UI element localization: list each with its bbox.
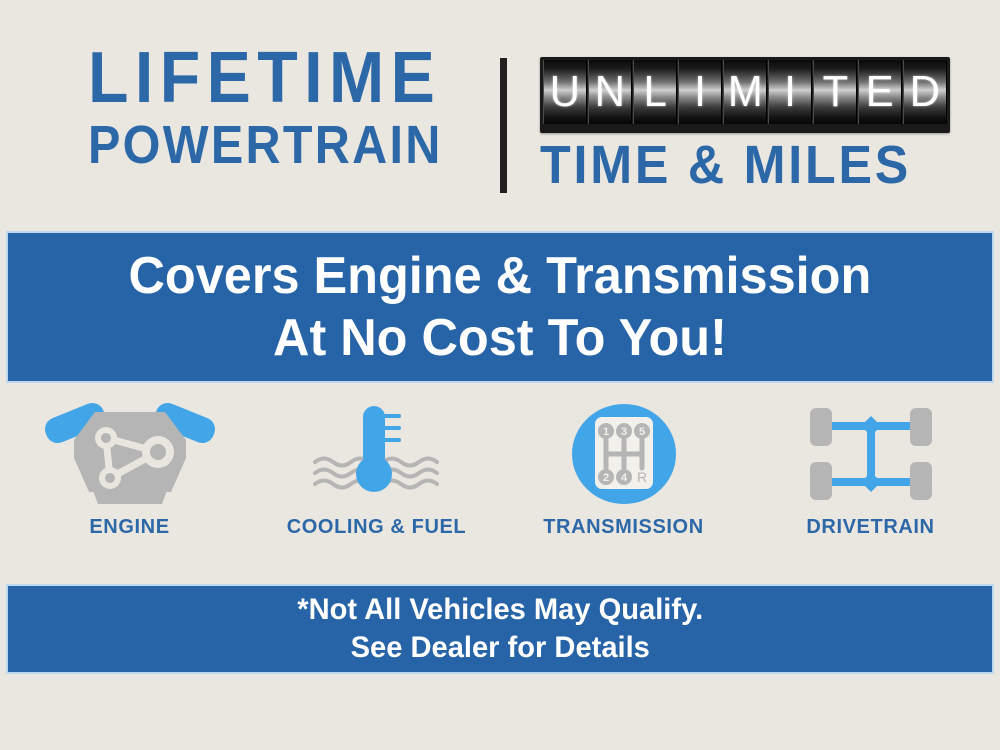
gear-numbers-top: 1 3 5 [598,423,650,439]
header-lockup: LIFETIME POWERTRAIN UNLIMITED TIME & MIL… [0,40,1000,210]
feature-label-engine: ENGINE [89,516,169,539]
odometer-char: E [866,69,894,115]
vertical-divider-icon [500,58,507,193]
main-offer-banner: Covers Engine & Transmission At No Cost … [6,231,994,383]
feature-engine: ENGINE [6,400,253,570]
gear-1-label: 1 [602,426,608,438]
feature-label-transmission: TRANSMISSION [543,516,704,539]
disclaimer-line-1: *Not All Vehicles May Qualify. [297,591,703,629]
odometer-cell: D [903,60,947,124]
disclaimer-line-2: See Dealer for Details [350,629,649,667]
odometer-cell: T [813,60,857,124]
odometer-char: D [910,69,940,115]
feature-label-drivetrain: DRIVETRAIN [806,516,934,539]
thermometer-waves-icon [287,400,467,508]
odometer-display: UNLIMITED [540,57,950,133]
feature-drivetrain: DRIVETRAIN [747,400,994,570]
gear-2-label: 2 [602,472,608,484]
odometer-char: T [822,69,848,115]
gear-r-label: R [636,469,646,485]
odometer-cell: U [543,60,587,124]
odometer-cell: I [678,60,722,124]
odometer-char: I [784,69,796,115]
warranty-poster: LIFETIME POWERTRAIN UNLIMITED TIME & MIL… [0,0,1000,750]
disclaimer-banner: *Not All Vehicles May Qualify. See Deale… [6,584,994,674]
title-line-lifetime: LIFETIME [88,40,456,116]
odometer-cell: E [858,60,902,124]
offer-line-1: Covers Engine & Transmission [129,245,872,307]
gear-numbers-bottom: 2 4 R [598,469,647,485]
coverage-feature-row: ENGINE [6,400,994,570]
gear-3-label: 3 [620,426,626,438]
axle-wheels-icon [796,400,946,508]
odometer-char: U [550,69,580,115]
odometer-char: M [728,69,763,115]
feature-cooling-fuel: COOLING & FUEL [253,400,500,570]
gear-4-label: 4 [620,472,627,484]
odometer-cell: I [768,60,812,124]
odometer-cell: M [723,60,767,124]
gear-5-label: 5 [638,426,644,438]
offer-line-2: At No Cost To You! [273,307,727,369]
feature-transmission: 1 3 5 2 4 R TRANSMISSI [500,400,747,570]
odometer-char: N [595,69,625,115]
subtitle-time-and-miles: TIME & MILES [540,136,911,194]
odometer-cell: L [633,60,677,124]
odometer-char: I [694,69,706,115]
odometer-char: L [643,69,666,115]
shift-pattern-icon: 1 3 5 2 4 R [554,400,694,508]
brand-title-block: LIFETIME POWERTRAIN [88,40,488,174]
feature-label-cooling-fuel: COOLING & FUEL [287,516,467,539]
title-line-powertrain: POWERTRAIN [88,116,448,174]
odometer-cell: N [588,60,632,124]
engine-icon [40,400,220,508]
